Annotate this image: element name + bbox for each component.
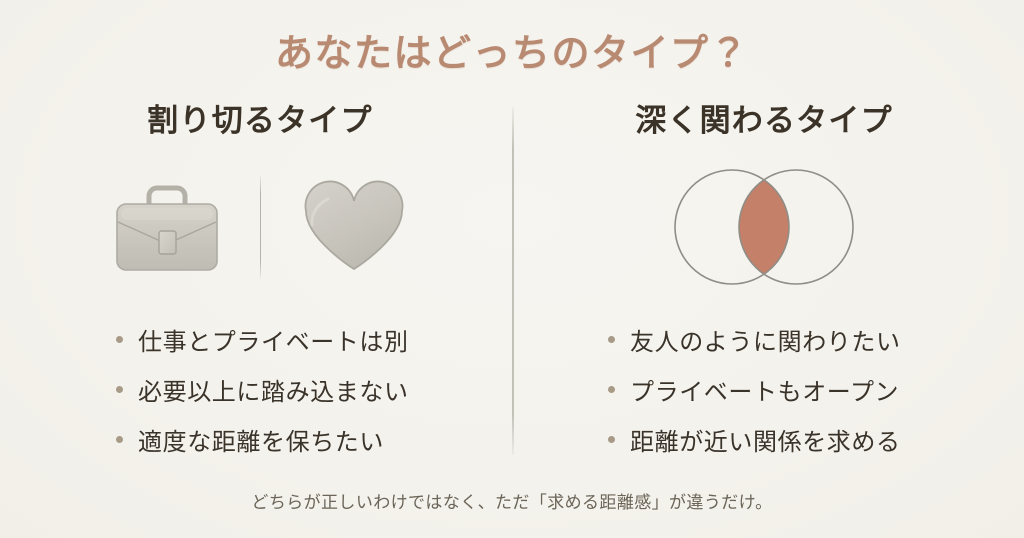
- column-right: 深く関わるタイプ: [534, 95, 994, 473]
- column-right-icons: [534, 162, 994, 292]
- column-left-icons: [30, 162, 490, 292]
- list-item-label: 距離が近い関係を求める: [630, 422, 901, 457]
- slide-canvas: あなたはどっちのタイプ？ 割り切るタイプ: [0, 0, 1024, 538]
- bullet-dot-icon: [116, 336, 123, 343]
- list-item: プライベートもオープン: [534, 372, 994, 407]
- list-item: 必要以上に踏み込まない: [30, 372, 490, 407]
- list-item: 友人のように関わりたい: [534, 322, 994, 357]
- bullet-dot-icon: [116, 436, 123, 443]
- page-title: あなたはどっちのタイプ？: [0, 22, 1024, 77]
- list-item-label: 必要以上に踏み込まない: [138, 372, 409, 407]
- heart-icon: [298, 177, 410, 277]
- bullet-dot-icon: [608, 436, 615, 443]
- footer-note: どちらが正しいわけではなく、ただ「求める距離感」が違うだけ。: [0, 488, 1024, 513]
- column-left-heading: 割り切るタイプ: [30, 95, 490, 140]
- bullet-dot-icon: [116, 386, 123, 393]
- briefcase-icon-slot: [92, 175, 242, 279]
- column-right-bullet-list: 友人のように関わりたい プライベートもオープン 距離が近い関係を求める: [534, 322, 994, 457]
- column-right-heading: 深く関わるタイプ: [534, 95, 994, 140]
- list-item-label: 適度な距離を保ちたい: [138, 422, 384, 457]
- list-item-label: 友人のように関わりたい: [630, 322, 901, 357]
- bullet-dot-icon: [608, 386, 615, 393]
- venn-diagram-icon: [664, 165, 864, 289]
- list-item: 距離が近い関係を求める: [534, 422, 994, 457]
- briefcase-icon: [108, 175, 226, 279]
- bullet-dot-icon: [608, 336, 615, 343]
- list-item-label: 仕事とプライベートは別: [138, 322, 409, 357]
- list-item-label: プライベートもオープン: [630, 372, 899, 407]
- venn-diagram-slot: [654, 165, 874, 289]
- list-item: 適度な距離を保ちたい: [30, 422, 490, 457]
- column-divider: [512, 107, 514, 455]
- icon-separator: [260, 175, 261, 279]
- list-item: 仕事とプライベートは別: [30, 322, 490, 357]
- column-left: 割り切るタイプ: [30, 95, 490, 473]
- heart-icon-slot: [279, 177, 429, 277]
- column-left-bullet-list: 仕事とプライベートは別 必要以上に踏み込まない 適度な距離を保ちたい: [30, 322, 490, 457]
